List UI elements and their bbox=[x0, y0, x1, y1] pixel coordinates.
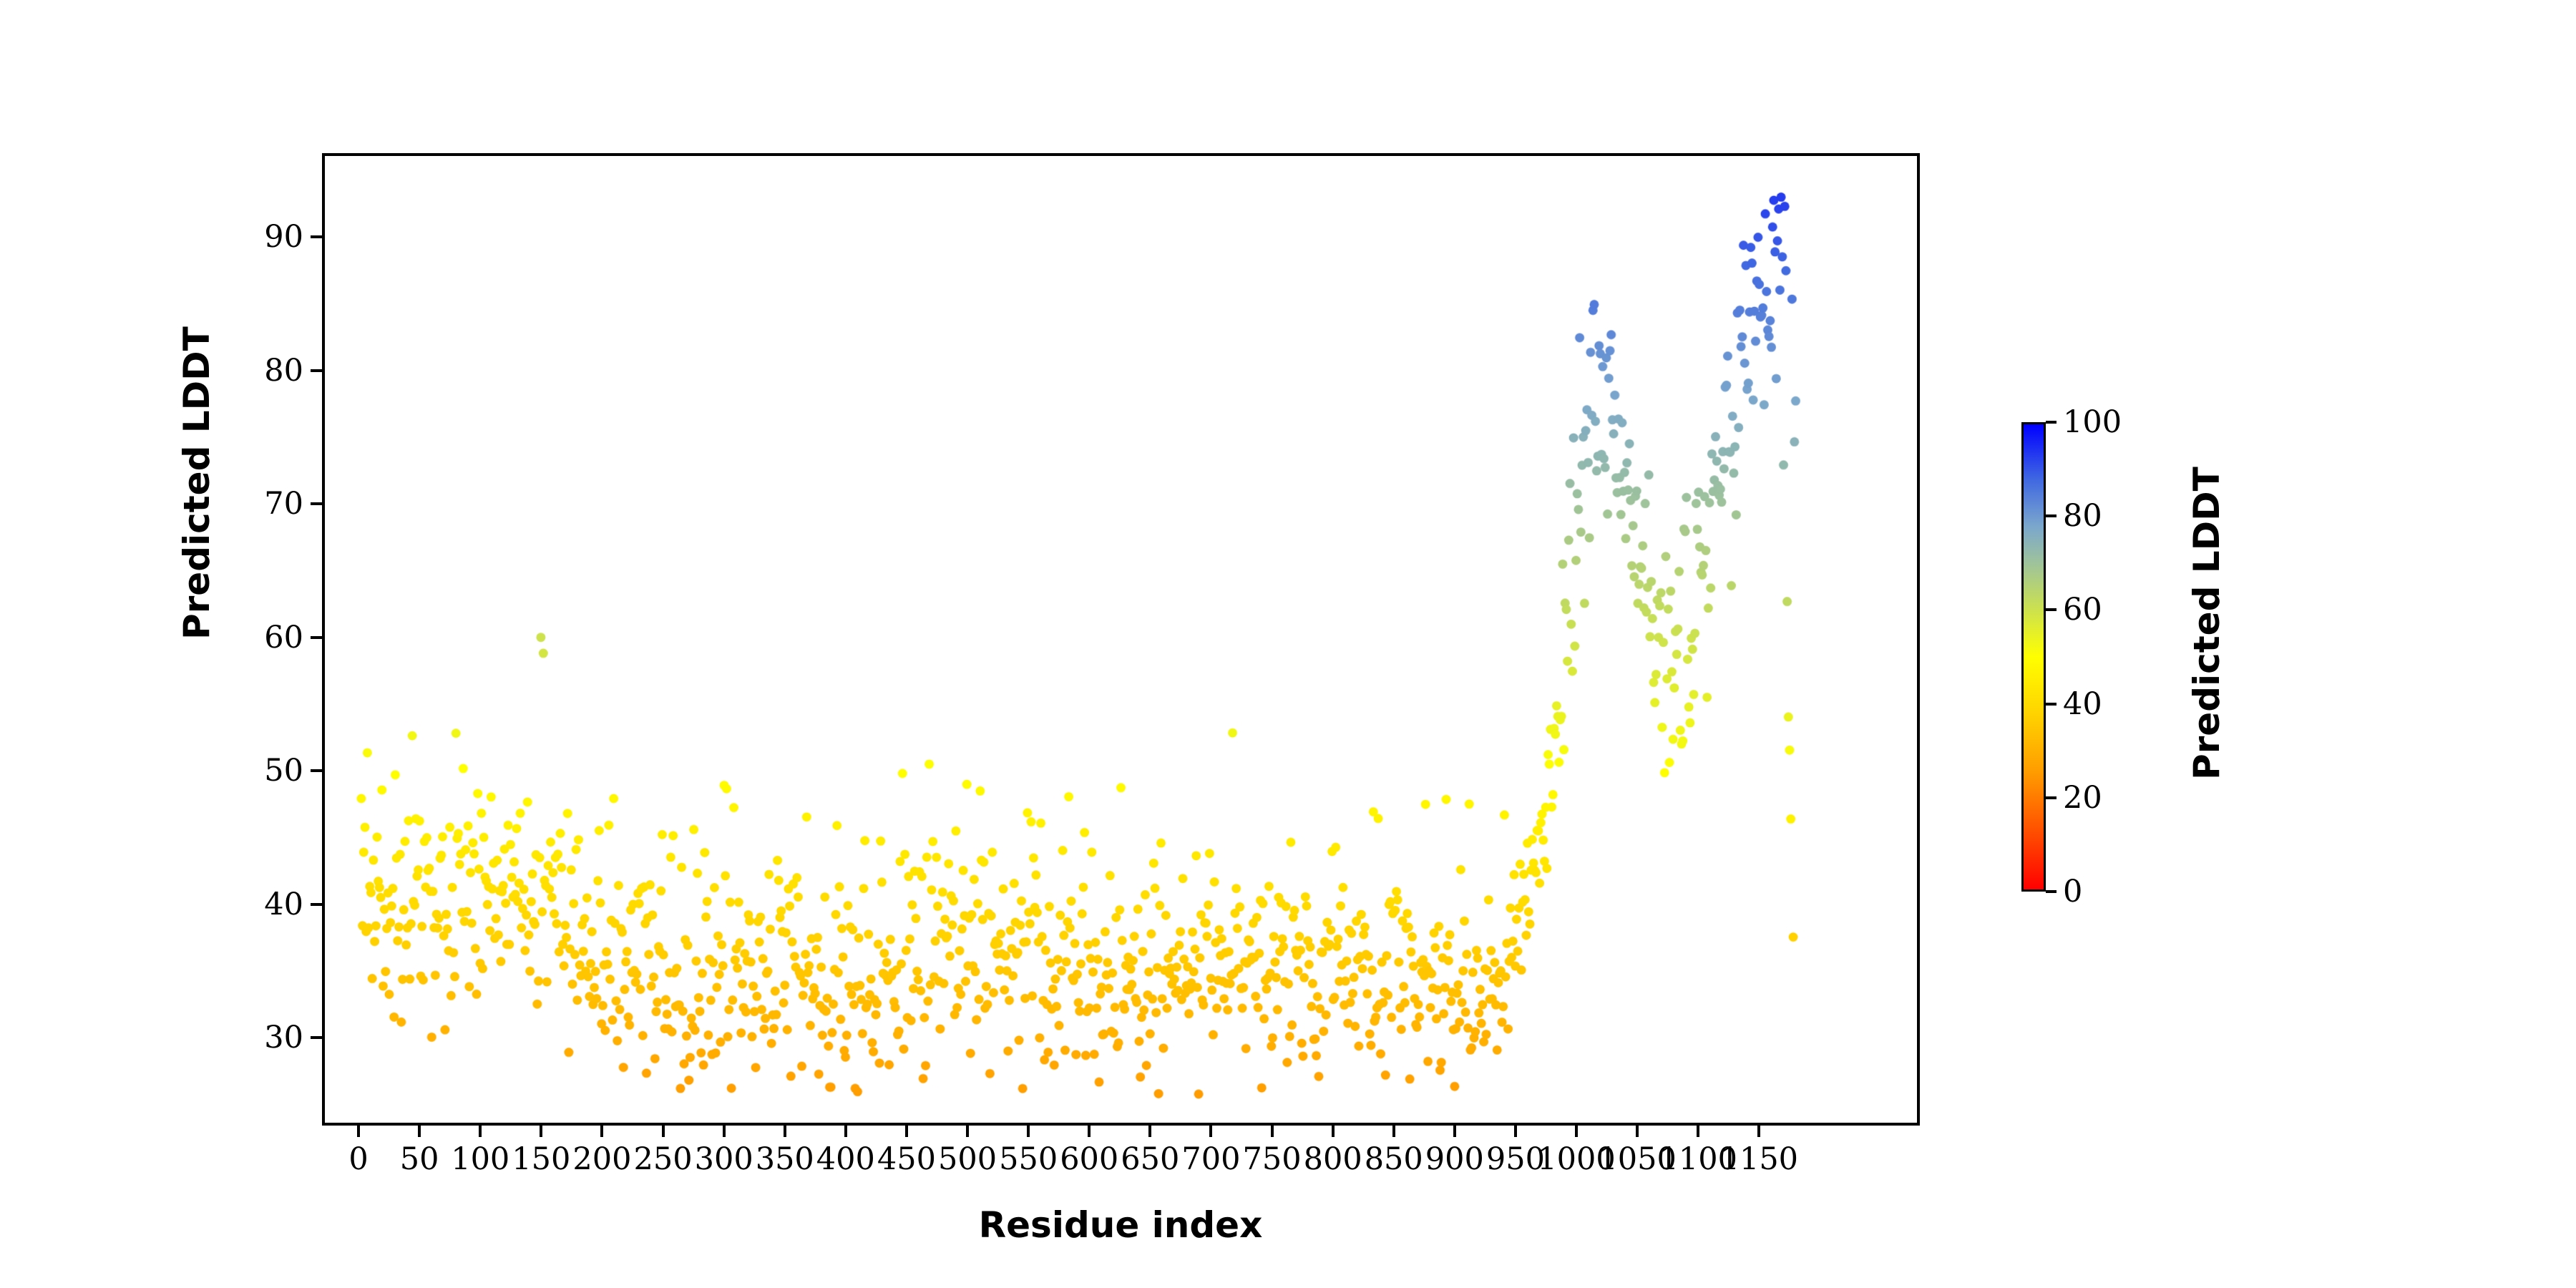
y-tick-label: 90 bbox=[264, 219, 303, 255]
x-tick-label: 950 bbox=[1486, 1141, 1545, 1177]
x-tick-mark bbox=[905, 1126, 908, 1137]
x-tick-label: 700 bbox=[1181, 1141, 1240, 1177]
y-tick-label: 70 bbox=[264, 486, 303, 522]
y-tick-mark bbox=[311, 502, 322, 505]
colorbar-tick-label: 60 bbox=[2063, 592, 2102, 628]
x-tick-label: 600 bbox=[1060, 1141, 1118, 1177]
y-tick-mark bbox=[311, 369, 322, 372]
colorbar-tick-label: 40 bbox=[2063, 686, 2102, 722]
x-tick-label: 1150 bbox=[1720, 1141, 1798, 1177]
y-tick-mark bbox=[311, 235, 322, 238]
colorbar-title: Predicted LDDT bbox=[2186, 467, 2228, 780]
colorbar-tick-mark bbox=[2046, 796, 2057, 799]
scatter-plot-axes bbox=[322, 153, 1920, 1126]
y-tick-label: 80 bbox=[264, 353, 303, 389]
colorbar-tick-mark bbox=[2046, 421, 2057, 424]
y-tick-mark bbox=[311, 1036, 322, 1039]
x-tick-mark bbox=[784, 1126, 786, 1137]
y-axis-label: Predicted LDDT bbox=[176, 326, 218, 640]
x-tick-mark bbox=[479, 1126, 482, 1137]
x-tick-mark bbox=[1209, 1126, 1212, 1137]
colorbar-tick-label: 100 bbox=[2063, 404, 2122, 440]
x-tick-mark bbox=[966, 1126, 969, 1137]
x-tick-label: 750 bbox=[1242, 1141, 1301, 1177]
x-tick-label: 250 bbox=[634, 1141, 693, 1177]
x-tick-label: 650 bbox=[1121, 1141, 1179, 1177]
x-tick-mark bbox=[1332, 1126, 1335, 1137]
x-tick-label: 200 bbox=[572, 1141, 631, 1177]
x-tick-mark bbox=[1453, 1126, 1456, 1137]
x-tick-mark bbox=[1514, 1126, 1517, 1137]
x-tick-label: 0 bbox=[348, 1141, 368, 1177]
x-tick-mark bbox=[1271, 1126, 1274, 1137]
colorbar: 020406080100 bbox=[2021, 422, 2046, 892]
x-tick-label: 300 bbox=[695, 1141, 753, 1177]
x-tick-label: 350 bbox=[756, 1141, 814, 1177]
x-tick-label: 850 bbox=[1365, 1141, 1423, 1177]
x-tick-mark bbox=[1088, 1126, 1091, 1137]
x-tick-mark bbox=[1575, 1126, 1578, 1137]
x-tick-mark bbox=[662, 1126, 665, 1137]
x-tick-label: 450 bbox=[877, 1141, 936, 1177]
y-tick-mark bbox=[311, 903, 322, 906]
x-tick-mark bbox=[844, 1126, 847, 1137]
x-tick-label: 150 bbox=[512, 1141, 570, 1177]
x-tick-mark bbox=[600, 1126, 603, 1137]
colorbar-tick-label: 0 bbox=[2063, 874, 2082, 909]
x-tick-mark bbox=[540, 1126, 542, 1137]
x-tick-mark bbox=[723, 1126, 726, 1137]
y-tick-label: 50 bbox=[264, 753, 303, 789]
y-tick-mark bbox=[311, 636, 322, 639]
x-tick-mark bbox=[1757, 1126, 1760, 1137]
colorbar-tick-mark bbox=[2046, 514, 2057, 517]
x-tick-label: 900 bbox=[1425, 1141, 1484, 1177]
colorbar-tick-label: 80 bbox=[2063, 498, 2102, 534]
y-tick-mark bbox=[311, 769, 322, 772]
x-tick-label: 50 bbox=[400, 1141, 439, 1177]
x-tick-label: 400 bbox=[816, 1141, 875, 1177]
y-tick-label: 60 bbox=[264, 620, 303, 655]
x-tick-mark bbox=[1697, 1126, 1699, 1137]
x-tick-label: 550 bbox=[999, 1141, 1058, 1177]
x-tick-mark bbox=[418, 1126, 421, 1137]
x-tick-mark bbox=[1027, 1126, 1030, 1137]
colorbar-tick-label: 20 bbox=[2063, 780, 2102, 816]
figure-canvas: 30405060708090 Predicted LDDT 0501001502… bbox=[0, 0, 2576, 1288]
x-tick-label: 500 bbox=[938, 1141, 997, 1177]
x-tick-mark bbox=[1636, 1126, 1639, 1137]
y-tick-label: 30 bbox=[264, 1020, 303, 1055]
x-tick-label: 100 bbox=[451, 1141, 509, 1177]
colorbar-tick-mark bbox=[2046, 608, 2057, 611]
x-tick-mark bbox=[1392, 1126, 1395, 1137]
colorbar-gradient bbox=[2021, 422, 2046, 892]
x-tick-mark bbox=[357, 1126, 360, 1137]
x-axis-label: Residue index bbox=[979, 1204, 1263, 1246]
y-tick-label: 40 bbox=[264, 887, 303, 922]
x-tick-mark bbox=[1148, 1126, 1151, 1137]
x-tick-label: 800 bbox=[1304, 1141, 1362, 1177]
colorbar-tick-mark bbox=[2046, 703, 2057, 706]
colorbar-tick-mark bbox=[2046, 890, 2057, 893]
scatter-points-layer bbox=[325, 156, 1917, 1123]
